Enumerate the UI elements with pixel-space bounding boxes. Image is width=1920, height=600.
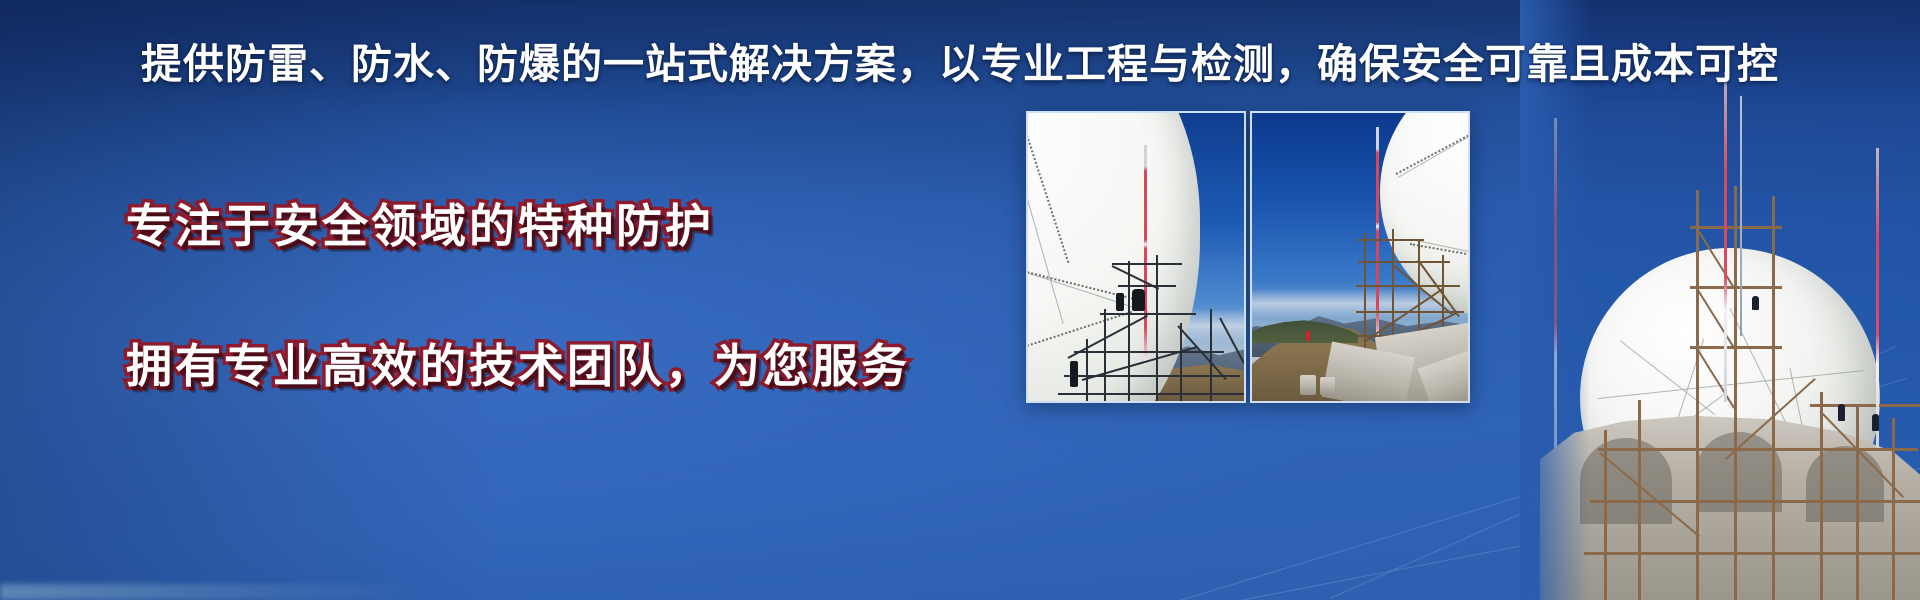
background-photo-left-fade — [1520, 0, 1590, 600]
background-dome-arch-3 — [1806, 446, 1884, 522]
photo-b-concrete-block — [1320, 377, 1335, 395]
background-lightning-rod-center — [1724, 72, 1727, 402]
photo-radome-mountain-ridge — [1250, 111, 1470, 403]
photo-a-worker-seated — [1132, 289, 1145, 311]
background-bottom-haze — [0, 584, 430, 600]
background-lightning-rod-thin — [1740, 96, 1742, 336]
photo-a-radome — [1026, 111, 1200, 403]
photo-a-lightning-rod — [1144, 145, 1147, 361]
background-scaffold-rail — [1598, 448, 1918, 451]
background-scaffold-rail — [1584, 552, 1920, 555]
banner-headline: 提供防雷、防水、防爆的一站式解决方案，以专业工程与检测，确保安全可靠且成本可控 — [0, 30, 1920, 90]
background-worker-2 — [1872, 414, 1879, 431]
photo-a-scaffold-post — [1104, 309, 1106, 401]
promo-banner: 提供防雷、防水、防爆的一站式解决方案，以专业工程与检测，确保安全可靠且成本可控 … — [0, 0, 1920, 600]
photo-b-concrete-block — [1300, 375, 1316, 395]
background-scaffold-rail — [1590, 500, 1920, 503]
slogan-secondary: 拥有专业高效的技术团队，为您服务 — [126, 330, 910, 396]
photo-a-scaffold-rail — [1118, 285, 1176, 287]
background-lightning-rod-right — [1876, 148, 1879, 448]
photo-a-worker-standing — [1116, 293, 1124, 311]
photo-a-scaffold-post — [1210, 309, 1212, 401]
photo-a-scaffold-post — [1180, 323, 1182, 401]
background-scaffold-rail — [1690, 226, 1782, 229]
background-scaffold-post — [1734, 186, 1737, 600]
background-scaffold-rail — [1690, 346, 1782, 349]
photo-a-scaffold-rail — [1112, 263, 1182, 265]
background-scaffold-post — [1820, 392, 1823, 600]
background-worker-1 — [1838, 404, 1845, 421]
background-scaffold-rail — [1810, 404, 1920, 407]
photo-b-scaffold-rail — [1358, 261, 1450, 263]
background-scaffold-post — [1772, 196, 1775, 600]
photo-a-scaffold-post — [1156, 255, 1158, 401]
photo-b-scaffold-rail — [1358, 239, 1424, 241]
background-scaffold-post — [1892, 418, 1895, 600]
background-photo-radome-under-scaffolding — [1520, 0, 1920, 600]
photo-b-ridge-marker-flag — [1306, 331, 1310, 341]
photo-gallery — [1026, 111, 1470, 403]
photo-a-scaffold-rail — [1058, 393, 1244, 395]
background-scaffold-post — [1856, 406, 1859, 600]
photo-radome-scaffold-workers — [1026, 111, 1246, 403]
background-scaffold-post — [1696, 190, 1699, 600]
background-scaffold-rail — [1690, 286, 1782, 289]
photo-a-scaffold-post — [1128, 261, 1130, 401]
background-worker-3 — [1752, 296, 1759, 310]
photo-a-scaffold-rail — [1100, 313, 1196, 315]
slogan-primary: 专注于安全领域的特种防护 — [126, 190, 910, 256]
slogan-group: 专注于安全领域的特种防护 拥有专业高效的技术团队，为您服务 — [126, 190, 910, 396]
photo-a-worker-ground — [1070, 361, 1078, 387]
photo-b-scaffold-rail — [1356, 285, 1460, 287]
